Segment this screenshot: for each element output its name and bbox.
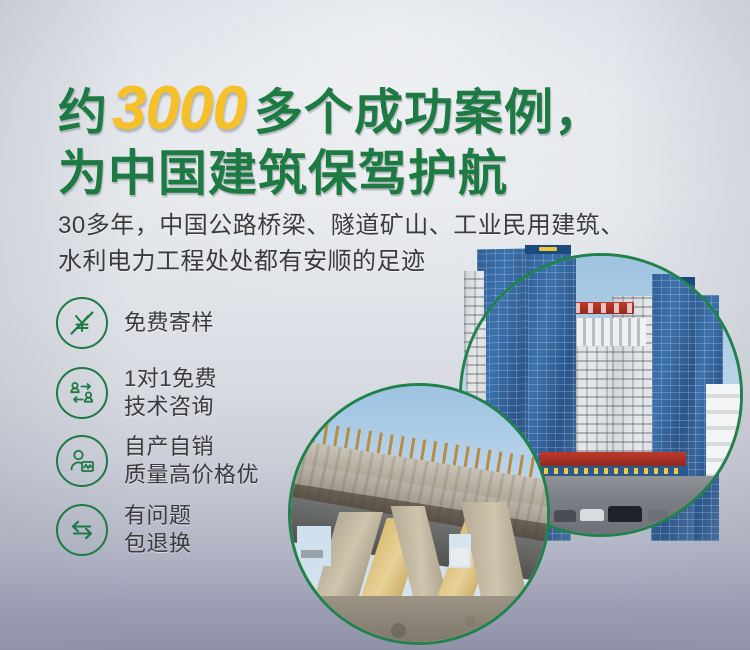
feature-label-line-1: 免费寄样 [124,310,214,335]
feature-item-free-sample[interactable]: 免费寄样 [56,297,259,349]
feature-label-line-1: 有问题 [124,503,192,528]
feature-label: 有问题 包退换 [124,502,192,558]
feature-label-line-1: 1对1免费 [124,366,217,391]
feature-label: 免费寄样 [124,309,214,337]
feature-label-line-2: 包退换 [124,531,192,556]
feature-item-consult[interactable]: 1对1免费 技术咨询 [56,365,259,421]
feature-label-line-2: 技术咨询 [124,394,214,419]
feature-item-return-exchange[interactable]: 有问题 包退换 [56,502,259,558]
feature-label-line-2: 质量高价格优 [124,462,259,487]
bridge-photo [288,383,550,645]
feature-label-line-1: 自产自销 [124,434,214,459]
subtitle-line-1: 30多年，中国公路桥梁、隧道矿山、工业民用建筑、 [58,208,718,244]
headline-suffix: 多个成功案例， [254,89,604,138]
one-on-one-consult-icon [56,367,108,419]
feature-item-self-manufacture[interactable]: 自产自销 质量高价格优 [56,433,259,489]
subtitle-line-2: 水利电力工程处处都有安顺的足迹 [58,244,718,280]
return-exchange-icon [56,504,108,556]
rubble-ground [291,596,547,642]
promo-banner: 约 3000 多个成功案例， 为中国建筑保驾护航 30多年，中国公路桥梁、隧道矿… [0,0,750,650]
headline-number: 3000 [112,78,246,140]
headline-prefix: 约 [58,89,108,138]
feature-label: 1对1免费 技术咨询 [124,365,217,421]
free-sample-icon [56,297,108,349]
subtitle: 30多年，中国公路桥梁、隧道矿山、工业民用建筑、 水利电力工程处处都有安顺的足迹 [58,208,718,280]
headline-line-2: 为中国建筑保驾护航 [58,148,698,201]
self-manufacture-icon [56,435,108,487]
headline-line-1: 约 3000 多个成功案例， [58,78,698,140]
headline: 约 3000 多个成功案例， 为中国建筑保驾护航 [58,78,698,201]
feature-list: 免费寄样 1对1免费 技术咨询 [56,297,259,570]
feature-label: 自产自销 质量高价格优 [124,433,259,489]
